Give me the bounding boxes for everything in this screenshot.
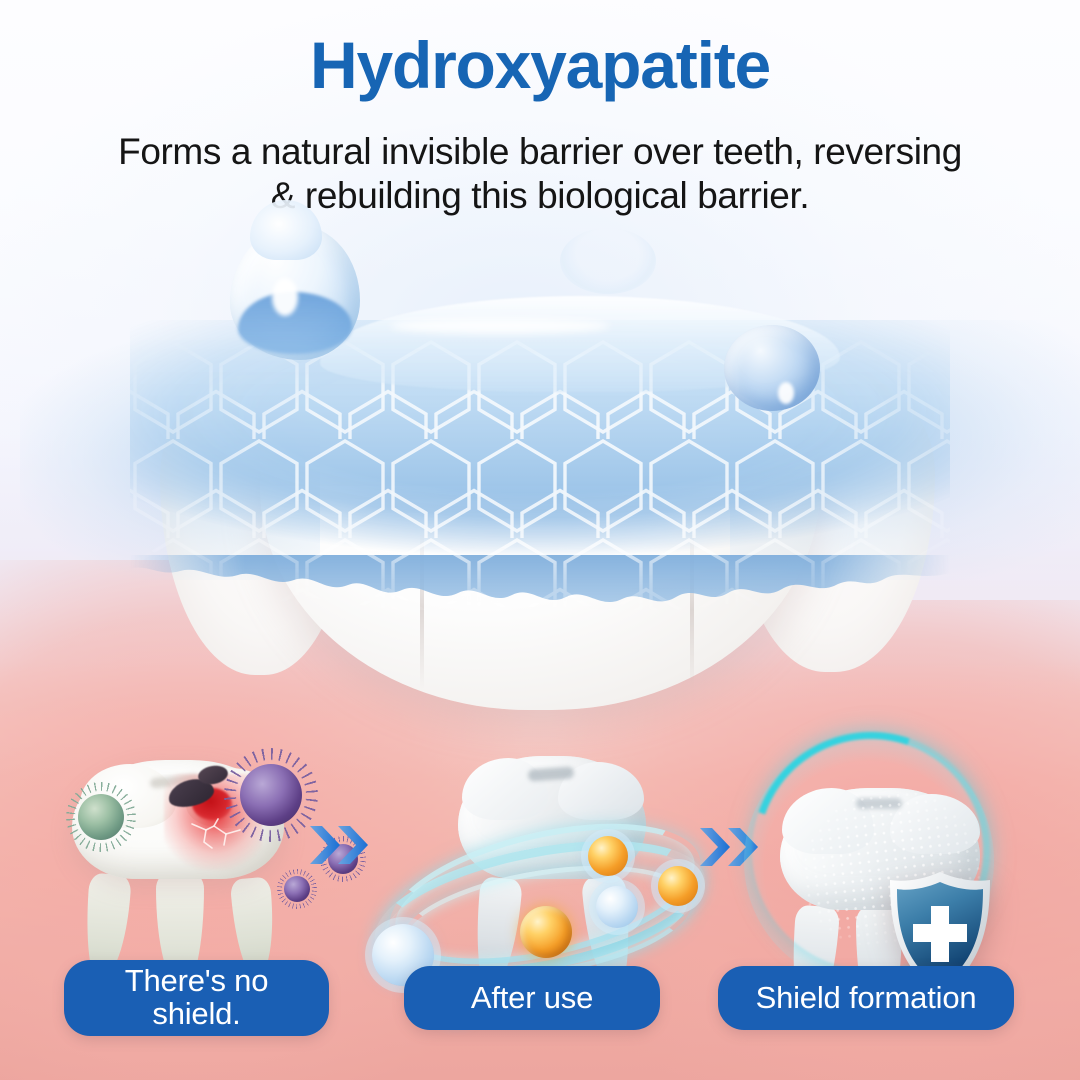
mineral-particle-gold: [520, 906, 572, 958]
gel-droplet-small: [724, 325, 820, 411]
hero-illustration: [90, 200, 990, 720]
label-shield-formation[interactable]: Shield formation: [718, 966, 1014, 1030]
subtitle-line-1: Forms a natural invisible barrier over t…: [118, 131, 962, 172]
label-after-use[interactable]: After use: [404, 966, 660, 1030]
chevron-right-icon: [308, 822, 374, 868]
gel-droplet-neck: [250, 200, 322, 260]
gel-droplet-highlight: [272, 278, 298, 316]
gel-droplet-small-highlight: [778, 382, 794, 404]
label-line-1: There's no: [125, 963, 269, 998]
gel-droplet-faint: [560, 228, 656, 294]
bacteria-icon: [78, 794, 124, 840]
bacteria-icon: [240, 764, 302, 826]
mineral-particle-gold: [588, 836, 628, 876]
gel-wave-highlight: [390, 318, 610, 334]
step-shield-formation: [738, 750, 1058, 1080]
label-line-2: shield.: [152, 996, 240, 1031]
label-no-shield[interactable]: There's no shield.: [64, 960, 329, 1036]
label-no-shield-text: There's no shield.: [125, 965, 269, 1031]
step-after-use: [378, 750, 708, 1080]
mineral-particle-blue: [596, 886, 638, 928]
mineral-particle-gold: [658, 866, 698, 906]
decayed-tooth-icon: [72, 760, 284, 980]
poster-canvas: Hydroxyapatite Forms a natural invisible…: [0, 0, 1080, 1080]
bacteria-icon: [284, 876, 310, 902]
page-title: Hydroxyapatite: [0, 32, 1080, 98]
